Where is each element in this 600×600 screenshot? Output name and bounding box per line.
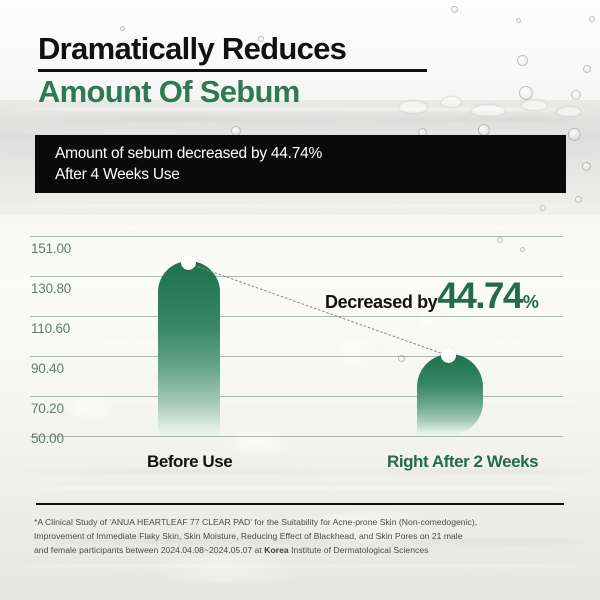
water-splash (440, 96, 462, 108)
footnote-line-3: and female participants between 2024.04.… (34, 544, 574, 558)
footnote-line-3-pre: and female participants between 2024.04.… (34, 545, 264, 555)
water-droplet (516, 18, 521, 23)
page-title-line2: Amount Of Sebum (38, 75, 427, 110)
callout-value: 44.74 (437, 275, 522, 317)
water-droplet (571, 90, 581, 100)
footer-divider (36, 503, 564, 505)
banner-line-1: Amount of sebum decreased by 44.74% (55, 144, 566, 165)
water-highlight (150, 556, 330, 582)
callout-label: Decreased by (325, 292, 437, 313)
water-splash (556, 106, 582, 117)
title-underline (38, 69, 427, 72)
water-droplet (519, 86, 533, 100)
clinical-study-footnote: *A Clinical Study of 'ANUA HEARTLEAF 77 … (34, 516, 574, 558)
water-droplet (583, 65, 591, 73)
bar-top-marker-dot (181, 255, 196, 270)
water-droplet (540, 205, 546, 211)
water-droplet (589, 16, 595, 22)
water-streak (0, 118, 600, 121)
water-streak (0, 487, 600, 489)
water-droplet (517, 55, 528, 66)
water-droplet (568, 128, 581, 141)
decrease-callout: Decreased by 44.74 % (325, 275, 539, 317)
bar-top-marker-dot (441, 348, 456, 363)
water-streak (0, 205, 600, 207)
page-title-line1: Dramatically Reduces (38, 32, 427, 67)
footnote-institute-name: Korea (264, 545, 288, 555)
summary-banner: Amount of sebum decreased by 44.74% Afte… (35, 135, 566, 193)
headline-block: Dramatically Reduces Amount Of Sebum (38, 32, 427, 109)
decrease-connector-line (0, 215, 600, 475)
water-streak (0, 131, 600, 133)
water-droplet (582, 162, 591, 171)
footnote-line-1: *A Clinical Study of 'ANUA HEARTLEAF 77 … (34, 516, 574, 530)
water-splash (520, 99, 548, 111)
banner-line-2: After 4 Weeks Use (55, 165, 566, 186)
callout-percent-sign: % (523, 292, 539, 313)
water-droplet (575, 196, 582, 203)
footnote-line-2: Improvement of Immediate Flaky Skin, Ski… (34, 530, 574, 544)
water-droplet (451, 6, 458, 13)
footnote-line-3-post: Institute of Dermatological Sciences (289, 545, 429, 555)
sebum-bar-chart: 151.00 130.80 110.60 90.40 70.20 50.00 D… (0, 215, 600, 475)
water-splash (470, 104, 506, 117)
